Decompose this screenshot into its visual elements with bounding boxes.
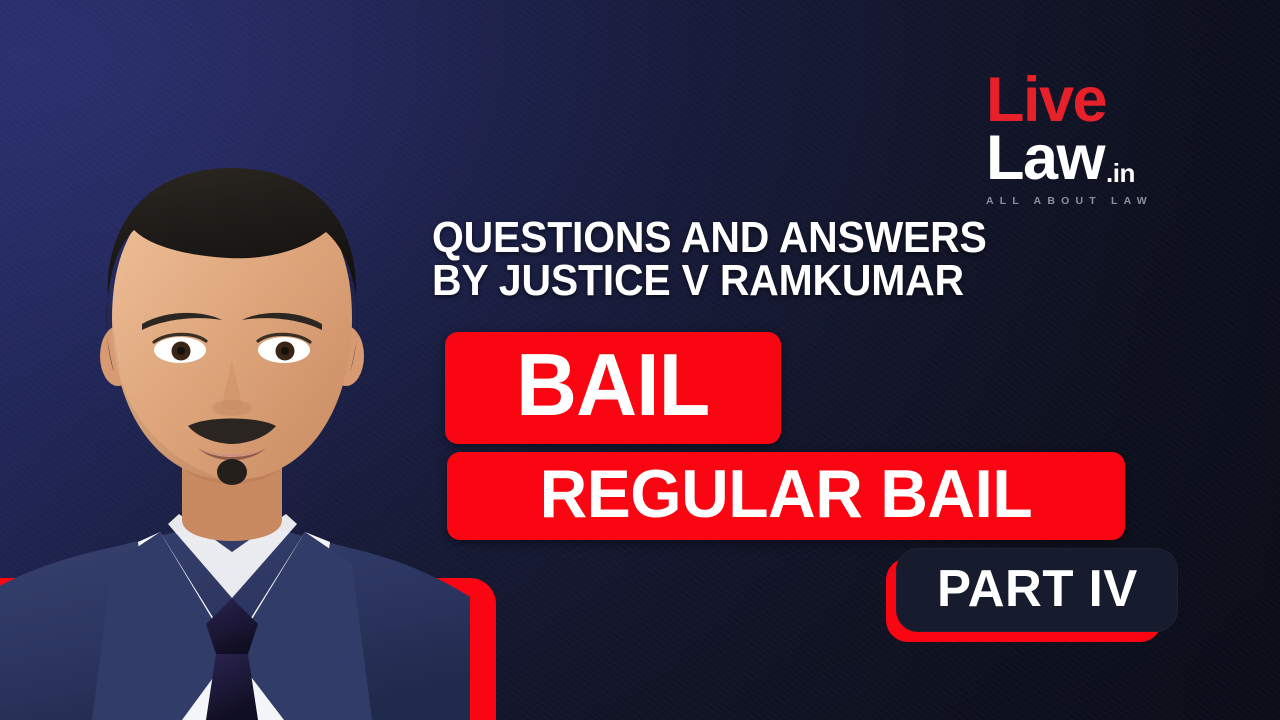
part-badge-label: PART IV [937, 563, 1138, 618]
headline-line-2: BY JUSTICE V RAMKUMAR [432, 259, 1150, 302]
headline-line-1: QUESTIONS AND ANSWERS [432, 216, 1150, 259]
topic-badge-bail: BAIL [445, 332, 781, 444]
topic-badge-label: BAIL [516, 341, 709, 435]
logo-text-domain: .in [1106, 162, 1135, 186]
headline: QUESTIONS AND ANSWERS BY JUSTICE V RAMKU… [432, 216, 1150, 302]
part-badge: PART IV [886, 548, 1178, 644]
logo-row-law: Law .in [986, 130, 1196, 188]
logo-tagline: ALL ABOUT LAW [986, 195, 1196, 207]
livelaw-logo[interactable]: Live Law .in ALL ABOUT LAW [986, 72, 1196, 207]
logo-text-law: Law [986, 130, 1104, 188]
thumbnail-canvas: Live Law .in ALL ABOUT LAW QUESTIONS AND… [0, 0, 1280, 720]
subtopic-badge-regular-bail: REGULAR BAIL [447, 452, 1125, 540]
logo-text-live: Live [986, 72, 1196, 130]
part-badge-body: PART IV [896, 548, 1178, 632]
portrait-image [0, 128, 470, 720]
subtopic-badge-label: REGULAR BAIL [540, 460, 1033, 532]
